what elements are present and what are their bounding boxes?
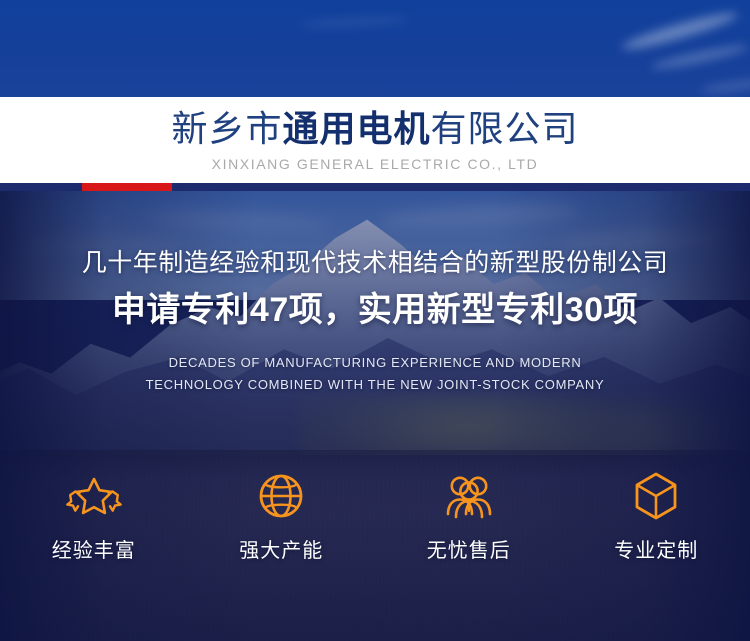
cube-box-icon [563,470,750,522]
feature-label: 经验丰富 [0,522,188,564]
feature-label: 无忧售后 [375,522,563,564]
company-title-part3: 有限公司 [431,108,579,149]
feature-label: 强大产能 [188,522,376,564]
company-title-part1: 新乡市 [171,108,282,149]
globe-icon [188,470,376,522]
company-title-part2: 通用电机 [282,108,430,149]
feature-item-experience[interactable]: 经验丰富 [0,470,188,564]
feature-item-customization[interactable]: 专业定制 [563,470,750,564]
company-subtitle: XINXIANG GENERAL ELECTRIC CO., LTD [0,152,750,173]
hero-english-line1: DECADES OF MANUFACTURING EXPERIENCE AND … [0,352,750,374]
feature-item-capacity[interactable]: 强大产能 [188,470,376,564]
hero-english-line2: TECHNOLOGY COMBINED WITH THE NEW JOINT-S… [0,374,750,396]
feature-item-aftersales[interactable]: 无忧售后 [375,470,563,564]
hero-headline: 申请专利47项，实用新型专利30项 [0,281,750,333]
feature-row: 经验丰富 强大产能 [0,470,750,564]
cloud-wisp [700,77,750,95]
header-band: 新乡市通用电机有限公司 XINXIANG GENERAL ELECTRIC CO… [0,97,750,183]
feature-label: 专业定制 [563,522,750,564]
people-group-icon [375,470,563,522]
cloud-wisp [300,15,410,29]
hero-text-block: 几十年制造经验和现代技术相结合的新型股份制公司 申请专利47项，实用新型专利30… [0,245,750,333]
company-banner: 新乡市通用电机有限公司 XINXIANG GENERAL ELECTRIC CO… [0,0,750,641]
hero-english-block: DECADES OF MANUFACTURING EXPERIENCE AND … [0,352,750,396]
company-title: 新乡市通用电机有限公司 [0,97,750,152]
cloud-wisp [650,42,750,73]
red-accent-bar [82,183,172,191]
hero-tagline: 几十年制造经验和现代技术相结合的新型股份制公司 [0,245,750,281]
top-sky-strip [0,0,750,97]
three-stars-icon [0,470,188,522]
